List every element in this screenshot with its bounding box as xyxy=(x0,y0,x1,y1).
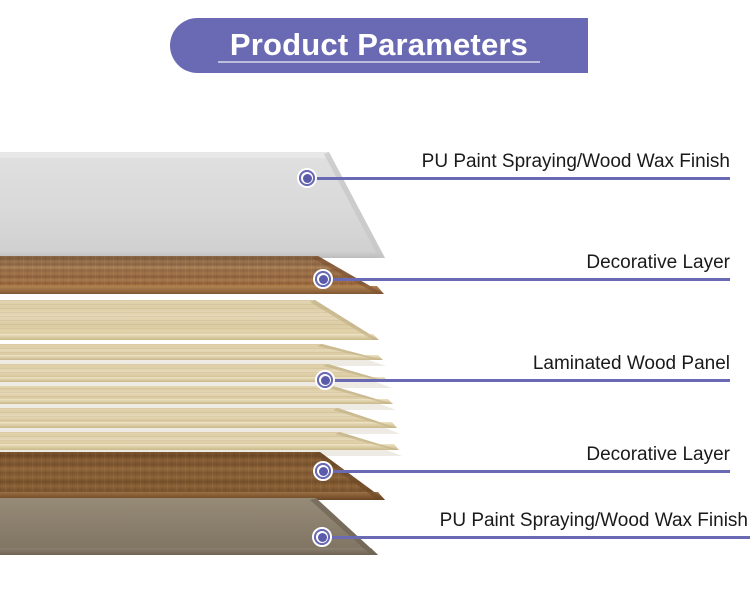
callout-leader-line xyxy=(325,379,730,382)
callout-marker-dot[interactable] xyxy=(315,370,335,390)
callout-label-bottom-decor: Decorative Layer xyxy=(586,445,730,464)
callout-leader-line xyxy=(323,278,730,281)
layer-top-coating xyxy=(0,152,391,271)
layer-stack-illustration xyxy=(0,0,750,589)
callout-marker-dot[interactable] xyxy=(313,269,333,289)
callout-label-top-coating: PU Paint Spraying/Wood Wax Finish xyxy=(422,152,730,171)
callout-label-core: Laminated Wood Panel xyxy=(533,354,730,373)
callout-label-bottom-coating: PU Paint Spraying/Wood Wax Finish xyxy=(440,511,748,530)
callout-leader-line xyxy=(307,177,730,180)
callout-marker-dot[interactable] xyxy=(313,461,333,481)
callout-leader-line xyxy=(322,536,750,539)
callout-marker-dot[interactable] xyxy=(312,527,332,547)
page-title-banner: Product Parameters xyxy=(170,18,588,73)
product-parameters-diagram: Product Parameters PU Paint Spraying/Woo… xyxy=(0,0,750,589)
callout-label-top-decor: Decorative Layer xyxy=(586,253,730,272)
layer-laminated-core xyxy=(0,300,402,456)
page-title: Product Parameters xyxy=(230,29,528,63)
callout-marker-dot[interactable] xyxy=(297,168,317,188)
callout-leader-line xyxy=(323,470,730,473)
